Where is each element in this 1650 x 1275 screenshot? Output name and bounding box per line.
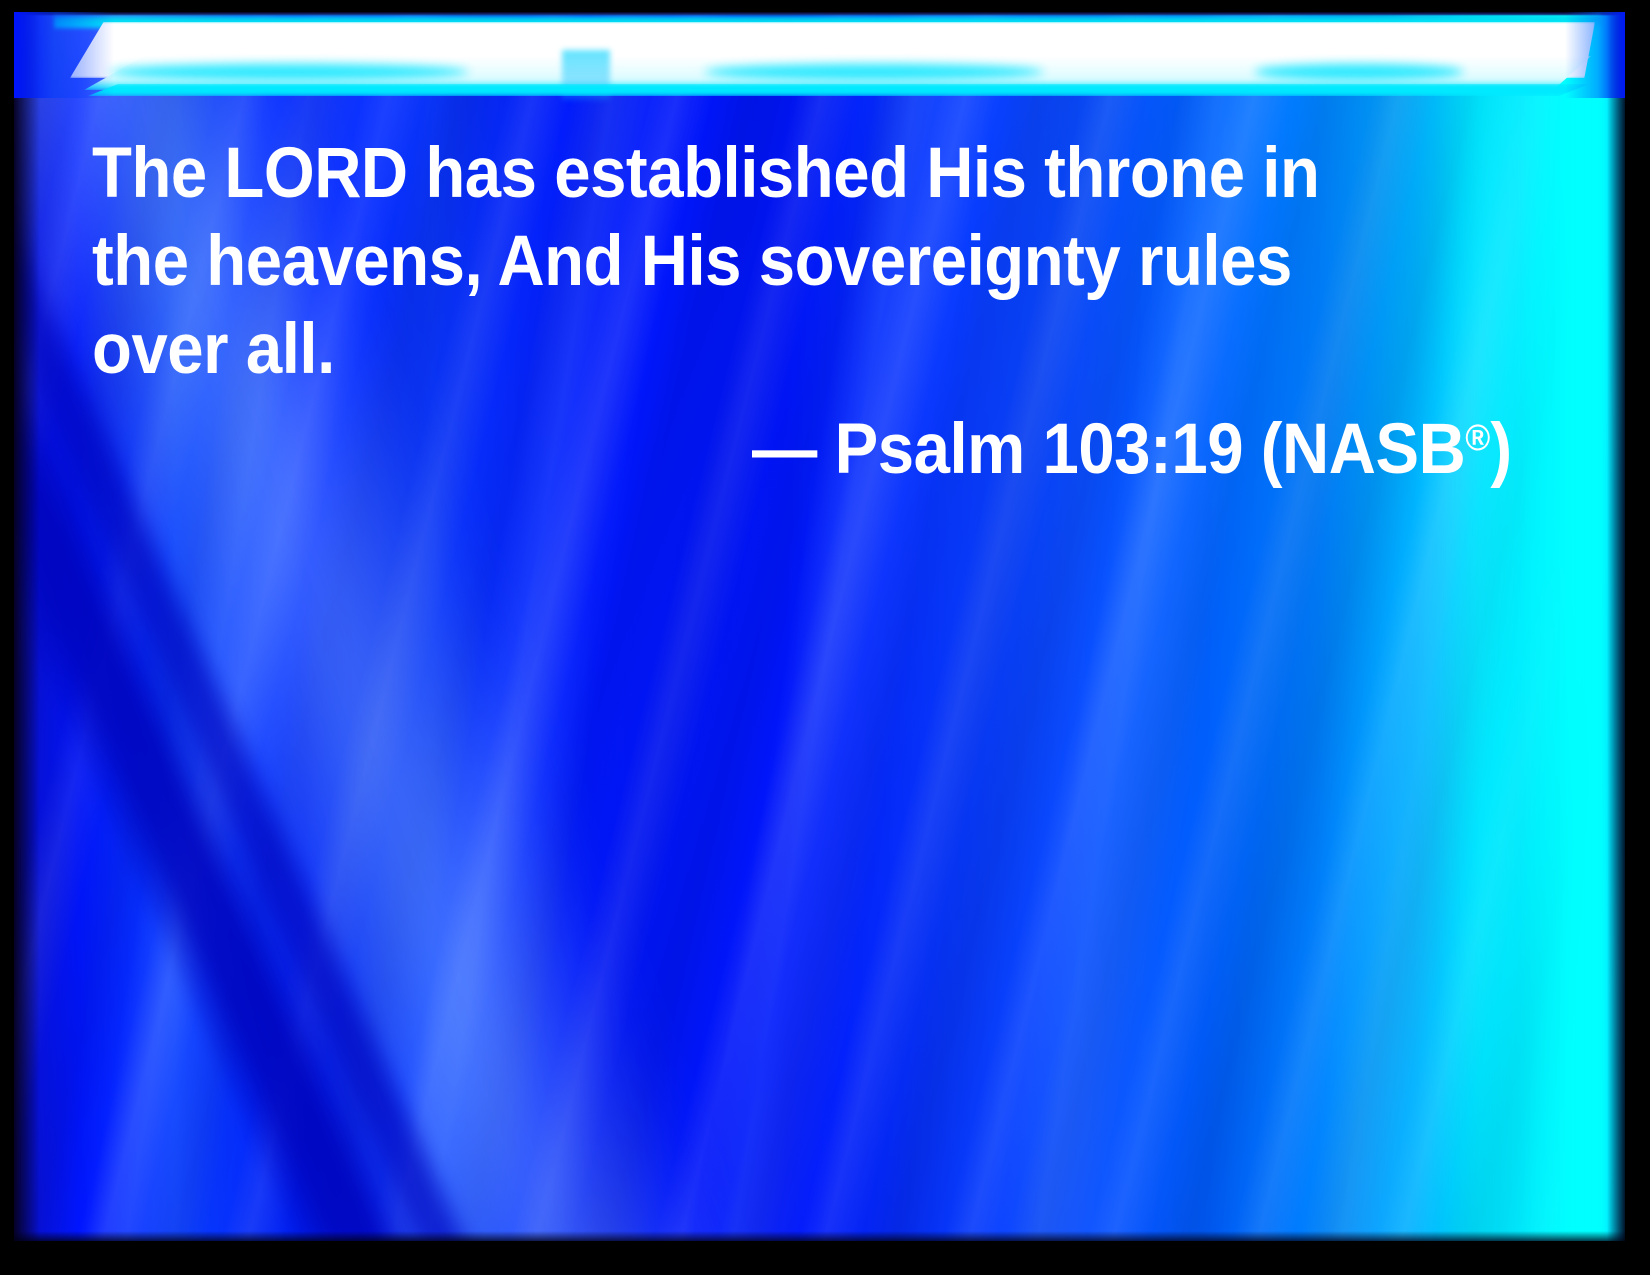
verse-attribution-block: — Psalm 103:19 (NASB®) [92,394,1512,494]
slide-artboard: The LORD has established His throne in t… [14,12,1625,1241]
verse-line-1: The LORD has established His throne in [92,130,1398,218]
verse-slide: The LORD has established His throne in t… [0,0,1650,1275]
registered-trademark-icon: ® [1466,417,1491,458]
verse-line-3: over all. [92,306,1398,394]
attribution-close-paren: ) [1491,410,1512,489]
attribution-spacer [817,410,835,489]
verse-line-2: the heavens, And His sovereignty rules [92,218,1398,306]
em-dash: — [752,410,817,489]
verse-attribution: — Psalm 103:19 (NASB®) [752,394,1512,494]
attribution-reference: Psalm 103:19 (NASB [835,410,1466,489]
text-layer: The LORD has established His throne in t… [14,12,1625,1241]
verse-text-block: The LORD has established His throne in t… [92,130,1512,394]
